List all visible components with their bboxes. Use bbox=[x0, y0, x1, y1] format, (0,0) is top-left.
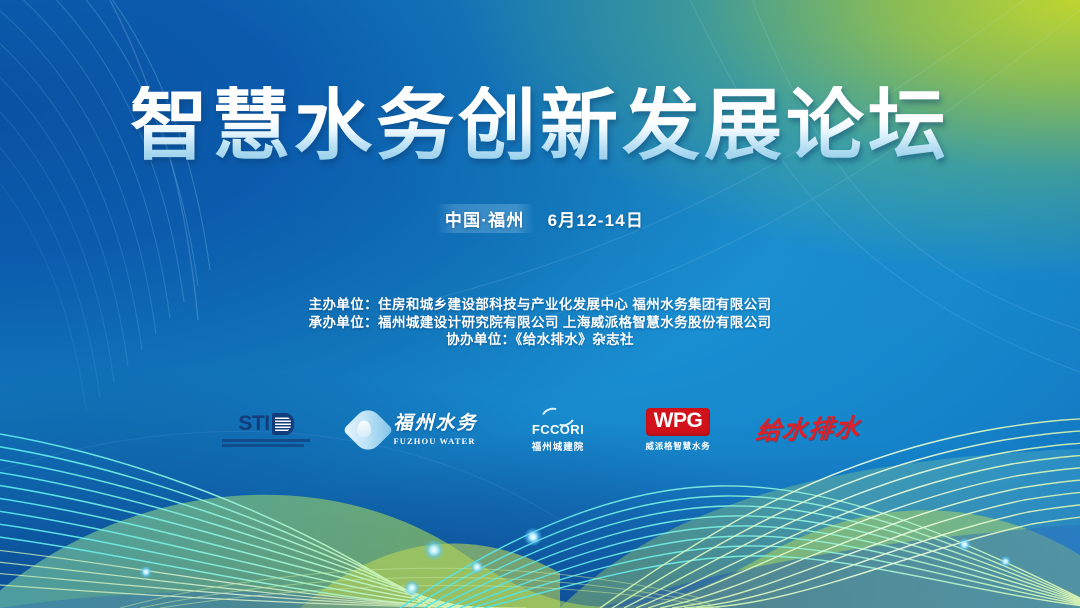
logo-stid: STI bbox=[220, 402, 312, 458]
poster-content: 智慧水务创新发展论坛 中国·福州6月12-14日 主办单位：住房和城乡建设部科技… bbox=[0, 0, 1080, 608]
logo-wpg-en: WPG bbox=[654, 409, 703, 432]
conference-poster: 智慧水务创新发展论坛 中国·福州6月12-14日 主办单位：住房和城乡建设部科技… bbox=[0, 0, 1080, 608]
logo-fuzhou-water-cn: 福州水务 bbox=[393, 414, 477, 434]
logo-fccori-cn: 福州城建院 bbox=[532, 439, 585, 453]
logo-wpg-cn: 威派格智慧水务 bbox=[645, 440, 710, 452]
organizer-line-cohost: 协办单位：《给水排水》杂志社 bbox=[0, 331, 1080, 349]
subtitle: 中国·福州6月12-14日 bbox=[0, 204, 1080, 233]
logo-fuzhou-water: 福州水务 FUZHOU WATER bbox=[348, 402, 480, 458]
logo-magazine: 给水排水 bbox=[756, 402, 860, 458]
water-drop-icon bbox=[343, 405, 394, 456]
stid-d-mark-icon bbox=[272, 413, 294, 435]
page-title: 智慧水务创新发展论坛 bbox=[0, 86, 1080, 164]
logo-fccori: FCCORI 福州城建院 bbox=[516, 402, 600, 458]
logo-stid-caption bbox=[222, 439, 310, 448]
logo-fuzhou-water-en: FUZHOU WATER bbox=[393, 436, 475, 446]
organizer-line-organizer: 承办单位：福州城建设计研究院有限公司 上海威派格智慧水务股份有限公司 bbox=[0, 314, 1080, 332]
arc-swoosh-icon bbox=[541, 408, 575, 422]
organizer-line-host: 主办单位：住房和城乡建设部科技与产业化发展中心 福州水务集团有限公司 bbox=[0, 296, 1080, 314]
logo-magazine-cn: 给水排水 bbox=[754, 416, 861, 445]
logo-wpg-box: WPG bbox=[646, 408, 711, 435]
organizer-block: 主办单位：住房和城乡建设部科技与产业化发展中心 福州水务集团有限公司 承办单位：… bbox=[0, 296, 1080, 349]
logo-wpg: WPG 威派格智慧水务 bbox=[636, 402, 720, 458]
subtitle-date: 6月12-14日 bbox=[548, 206, 645, 231]
sponsor-logo-row: STI 福州水务 FUZHOU WATER FCCORI 福州城建院 bbox=[0, 402, 1080, 458]
logo-stid-text: STI bbox=[238, 413, 269, 434]
subtitle-location: 中国·福州 bbox=[436, 204, 534, 233]
